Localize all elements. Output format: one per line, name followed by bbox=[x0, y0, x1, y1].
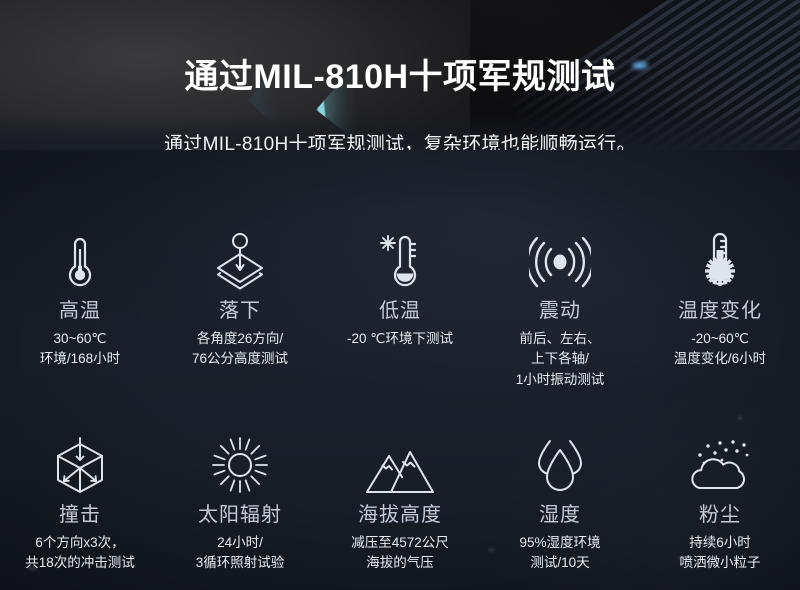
test-item-description: -20 ℃环境下测试 bbox=[347, 329, 453, 349]
thermometer-high-icon bbox=[57, 228, 103, 290]
test-item[interactable]: 低温 -20 ℃环境下测试 bbox=[320, 228, 480, 390]
test-item-title: 温度变化 bbox=[678, 300, 762, 323]
test-item-desc-line: 76公分高度测试 bbox=[192, 349, 288, 369]
thermometer-snowflake-icon bbox=[371, 228, 429, 290]
test-item-title: 湿度 bbox=[539, 504, 581, 527]
test-item-desc-line: 各角度26方向/ bbox=[192, 329, 288, 349]
test-item-title: 高温 bbox=[59, 300, 101, 323]
test-item[interactable]: 温度变化 -20~60℃ 温度变化/6小时 bbox=[640, 228, 800, 390]
drop-test-icon bbox=[209, 228, 271, 290]
test-item-desc-line: 持续6小时 bbox=[680, 533, 761, 553]
dust-cloud-icon bbox=[687, 432, 753, 494]
test-item[interactable]: 湿度 95%湿度环境 测试/10天 bbox=[480, 432, 640, 574]
test-item[interactable]: 高温 30~60℃ 环境/168小时 bbox=[0, 228, 160, 390]
water-drops-icon bbox=[533, 432, 587, 494]
test-item-description: 6个方向x3次， 共18次的冲击测试 bbox=[25, 533, 135, 574]
test-items-grid: 高温 30~60℃ 环境/168小时 落下 各角度26方向/ 76公分高度测 bbox=[0, 228, 800, 573]
test-item-title: 落下 bbox=[219, 300, 261, 323]
mountains-icon bbox=[365, 432, 435, 494]
test-item-description: 各角度26方向/ 76公分高度测试 bbox=[192, 329, 288, 370]
thermometer-burst-icon bbox=[694, 228, 746, 290]
test-item[interactable]: 撞击 6个方向x3次， 共18次的冲击测试 bbox=[0, 432, 160, 574]
test-item-title: 震动 bbox=[539, 300, 581, 323]
test-item-desc-line: 温度变化/6小时 bbox=[674, 349, 766, 369]
test-item-desc-line: -20~60℃ bbox=[674, 329, 766, 349]
test-item-desc-line: 共18次的冲击测试 bbox=[25, 553, 135, 573]
test-item-desc-line: 1小时振动测试 bbox=[516, 370, 605, 390]
vibration-waves-icon bbox=[529, 228, 591, 290]
test-item-title: 太阳辐射 bbox=[198, 504, 282, 527]
test-item-title: 粉尘 bbox=[699, 504, 741, 527]
test-item-description: -20~60℃ 温度变化/6小时 bbox=[674, 329, 766, 370]
test-item-title: 低温 bbox=[379, 300, 421, 323]
test-item[interactable]: 震动 前后、左右、 上下各轴/ 1小时振动测试 bbox=[480, 228, 640, 390]
test-item-desc-line: 海拔的气压 bbox=[351, 553, 449, 573]
test-item[interactable]: 海拔高度 减压至4572公尺 海拔的气压 bbox=[320, 432, 480, 574]
test-item-desc-line: 30~60℃ bbox=[40, 329, 120, 349]
test-item[interactable]: 太阳辐射 24小时/ 3循环照射试验 bbox=[160, 432, 320, 574]
test-item-desc-line: 喷洒微小粒子 bbox=[680, 553, 761, 573]
test-item-desc-line: 减压至4572公尺 bbox=[351, 533, 449, 553]
test-item-desc-line: 95%湿度环境 bbox=[519, 533, 600, 553]
product-feature-page: 通过MIL-810H十项军规测试 通过MIL-810H十项军规测试，复杂环境也能… bbox=[0, 0, 800, 590]
sun-icon bbox=[210, 432, 270, 494]
test-item-description: 30~60℃ 环境/168小时 bbox=[40, 329, 120, 370]
test-item-desc-line: 6个方向x3次， bbox=[25, 533, 135, 553]
test-item[interactable]: 粉尘 持续6小时 喷洒微小粒子 bbox=[640, 432, 800, 574]
test-item-desc-line: -20 ℃环境下测试 bbox=[347, 329, 453, 349]
test-item-desc-line: 环境/168小时 bbox=[40, 349, 120, 369]
test-item-description: 减压至4572公尺 海拔的气压 bbox=[351, 533, 449, 574]
test-item-description: 24小时/ 3循环照射试验 bbox=[196, 533, 285, 574]
impact-cube-icon bbox=[52, 432, 108, 494]
page-title: 通过MIL-810H十项军规测试 bbox=[0, 49, 800, 98]
test-item-description: 95%湿度环境 测试/10天 bbox=[519, 533, 600, 574]
test-item-desc-line: 上下各轴/ bbox=[516, 349, 605, 369]
test-item-desc-line: 24小时/ bbox=[196, 533, 285, 553]
test-item-desc-line: 3循环照射试验 bbox=[196, 553, 285, 573]
test-item-description: 持续6小时 喷洒微小粒子 bbox=[680, 533, 761, 574]
test-item-title: 撞击 bbox=[59, 504, 101, 527]
test-item-desc-line: 前后、左右、 bbox=[516, 329, 605, 349]
test-item-title: 海拔高度 bbox=[358, 504, 442, 527]
test-item-desc-line: 测试/10天 bbox=[519, 553, 600, 573]
test-item[interactable]: 落下 各角度26方向/ 76公分高度测试 bbox=[160, 228, 320, 390]
test-item-description: 前后、左右、 上下各轴/ 1小时振动测试 bbox=[516, 329, 605, 390]
